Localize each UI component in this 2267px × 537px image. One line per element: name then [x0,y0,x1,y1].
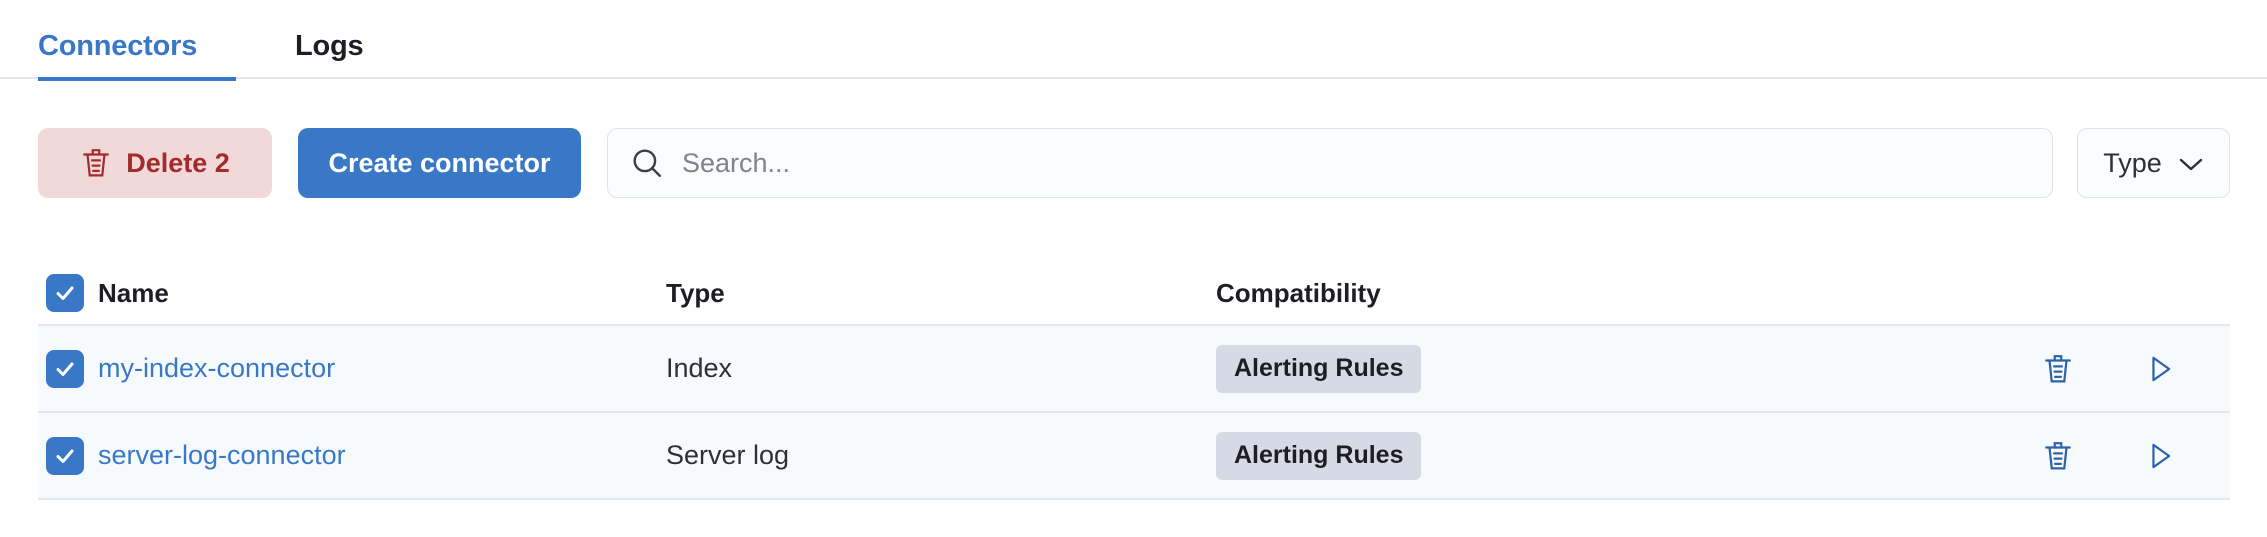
toolbar: Delete 2 Create connector Type [38,128,2230,198]
table-row[interactable]: my-index-connector Index Alerting Rules [38,326,2230,413]
table-row[interactable]: server-log-connector Server log Alerting… [38,413,2230,500]
column-header-name[interactable]: Name [98,278,666,309]
row-name-cell: my-index-connector [98,353,666,384]
search-input[interactable] [682,148,2030,179]
row-select-cell [38,350,98,388]
delete-row-trash-icon[interactable] [2042,352,2074,386]
tab-list: Connectors Logs [38,0,396,79]
delete-row-trash-icon[interactable] [2042,439,2074,473]
tab-bar: Connectors Logs [0,0,2267,79]
tab-connectors[interactable]: Connectors [38,32,236,79]
connector-name-link[interactable]: server-log-connector [98,440,346,470]
select-all-checkbox[interactable] [46,274,84,312]
search-icon [630,146,664,180]
row-compatibility-cell: Alerting Rules [1216,345,2020,393]
compatibility-badge: Alerting Rules [1216,432,1421,480]
row-compatibility-cell: Alerting Rules [1216,432,2020,480]
connector-name-link[interactable]: my-index-connector [98,353,335,383]
connectors-table: Name Type Compatibility my-index-connect… [38,262,2230,500]
chevron-down-icon [2178,148,2204,179]
create-connector-label: Create connector [328,148,550,179]
search-box[interactable] [607,128,2053,198]
row-actions-cell [2020,352,2230,386]
row-select-cell [38,437,98,475]
create-connector-button[interactable]: Create connector [298,128,581,198]
row-type-cell: Index [666,353,1216,384]
compatibility-badge: Alerting Rules [1216,345,1421,393]
type-filter-button[interactable]: Type [2077,128,2230,198]
row-actions-cell [2020,439,2230,473]
row-checkbox[interactable] [46,437,84,475]
type-filter-label: Type [2103,148,2162,179]
table-header-row: Name Type Compatibility [38,262,2230,326]
row-type-cell: Server log [666,440,1216,471]
column-header-type[interactable]: Type [666,278,1216,309]
run-row-play-icon[interactable] [2144,439,2176,473]
connectors-page: Connectors Logs Delete 2 Create connecto… [0,0,2267,537]
tab-logs[interactable]: Logs [236,32,396,79]
trash-icon [80,146,112,180]
select-all-cell [38,274,98,312]
run-row-play-icon[interactable] [2144,352,2176,386]
delete-button-label: Delete 2 [126,148,230,179]
delete-button[interactable]: Delete 2 [38,128,272,198]
row-checkbox[interactable] [46,350,84,388]
row-name-cell: server-log-connector [98,440,666,471]
column-header-compatibility[interactable]: Compatibility [1216,278,2020,309]
